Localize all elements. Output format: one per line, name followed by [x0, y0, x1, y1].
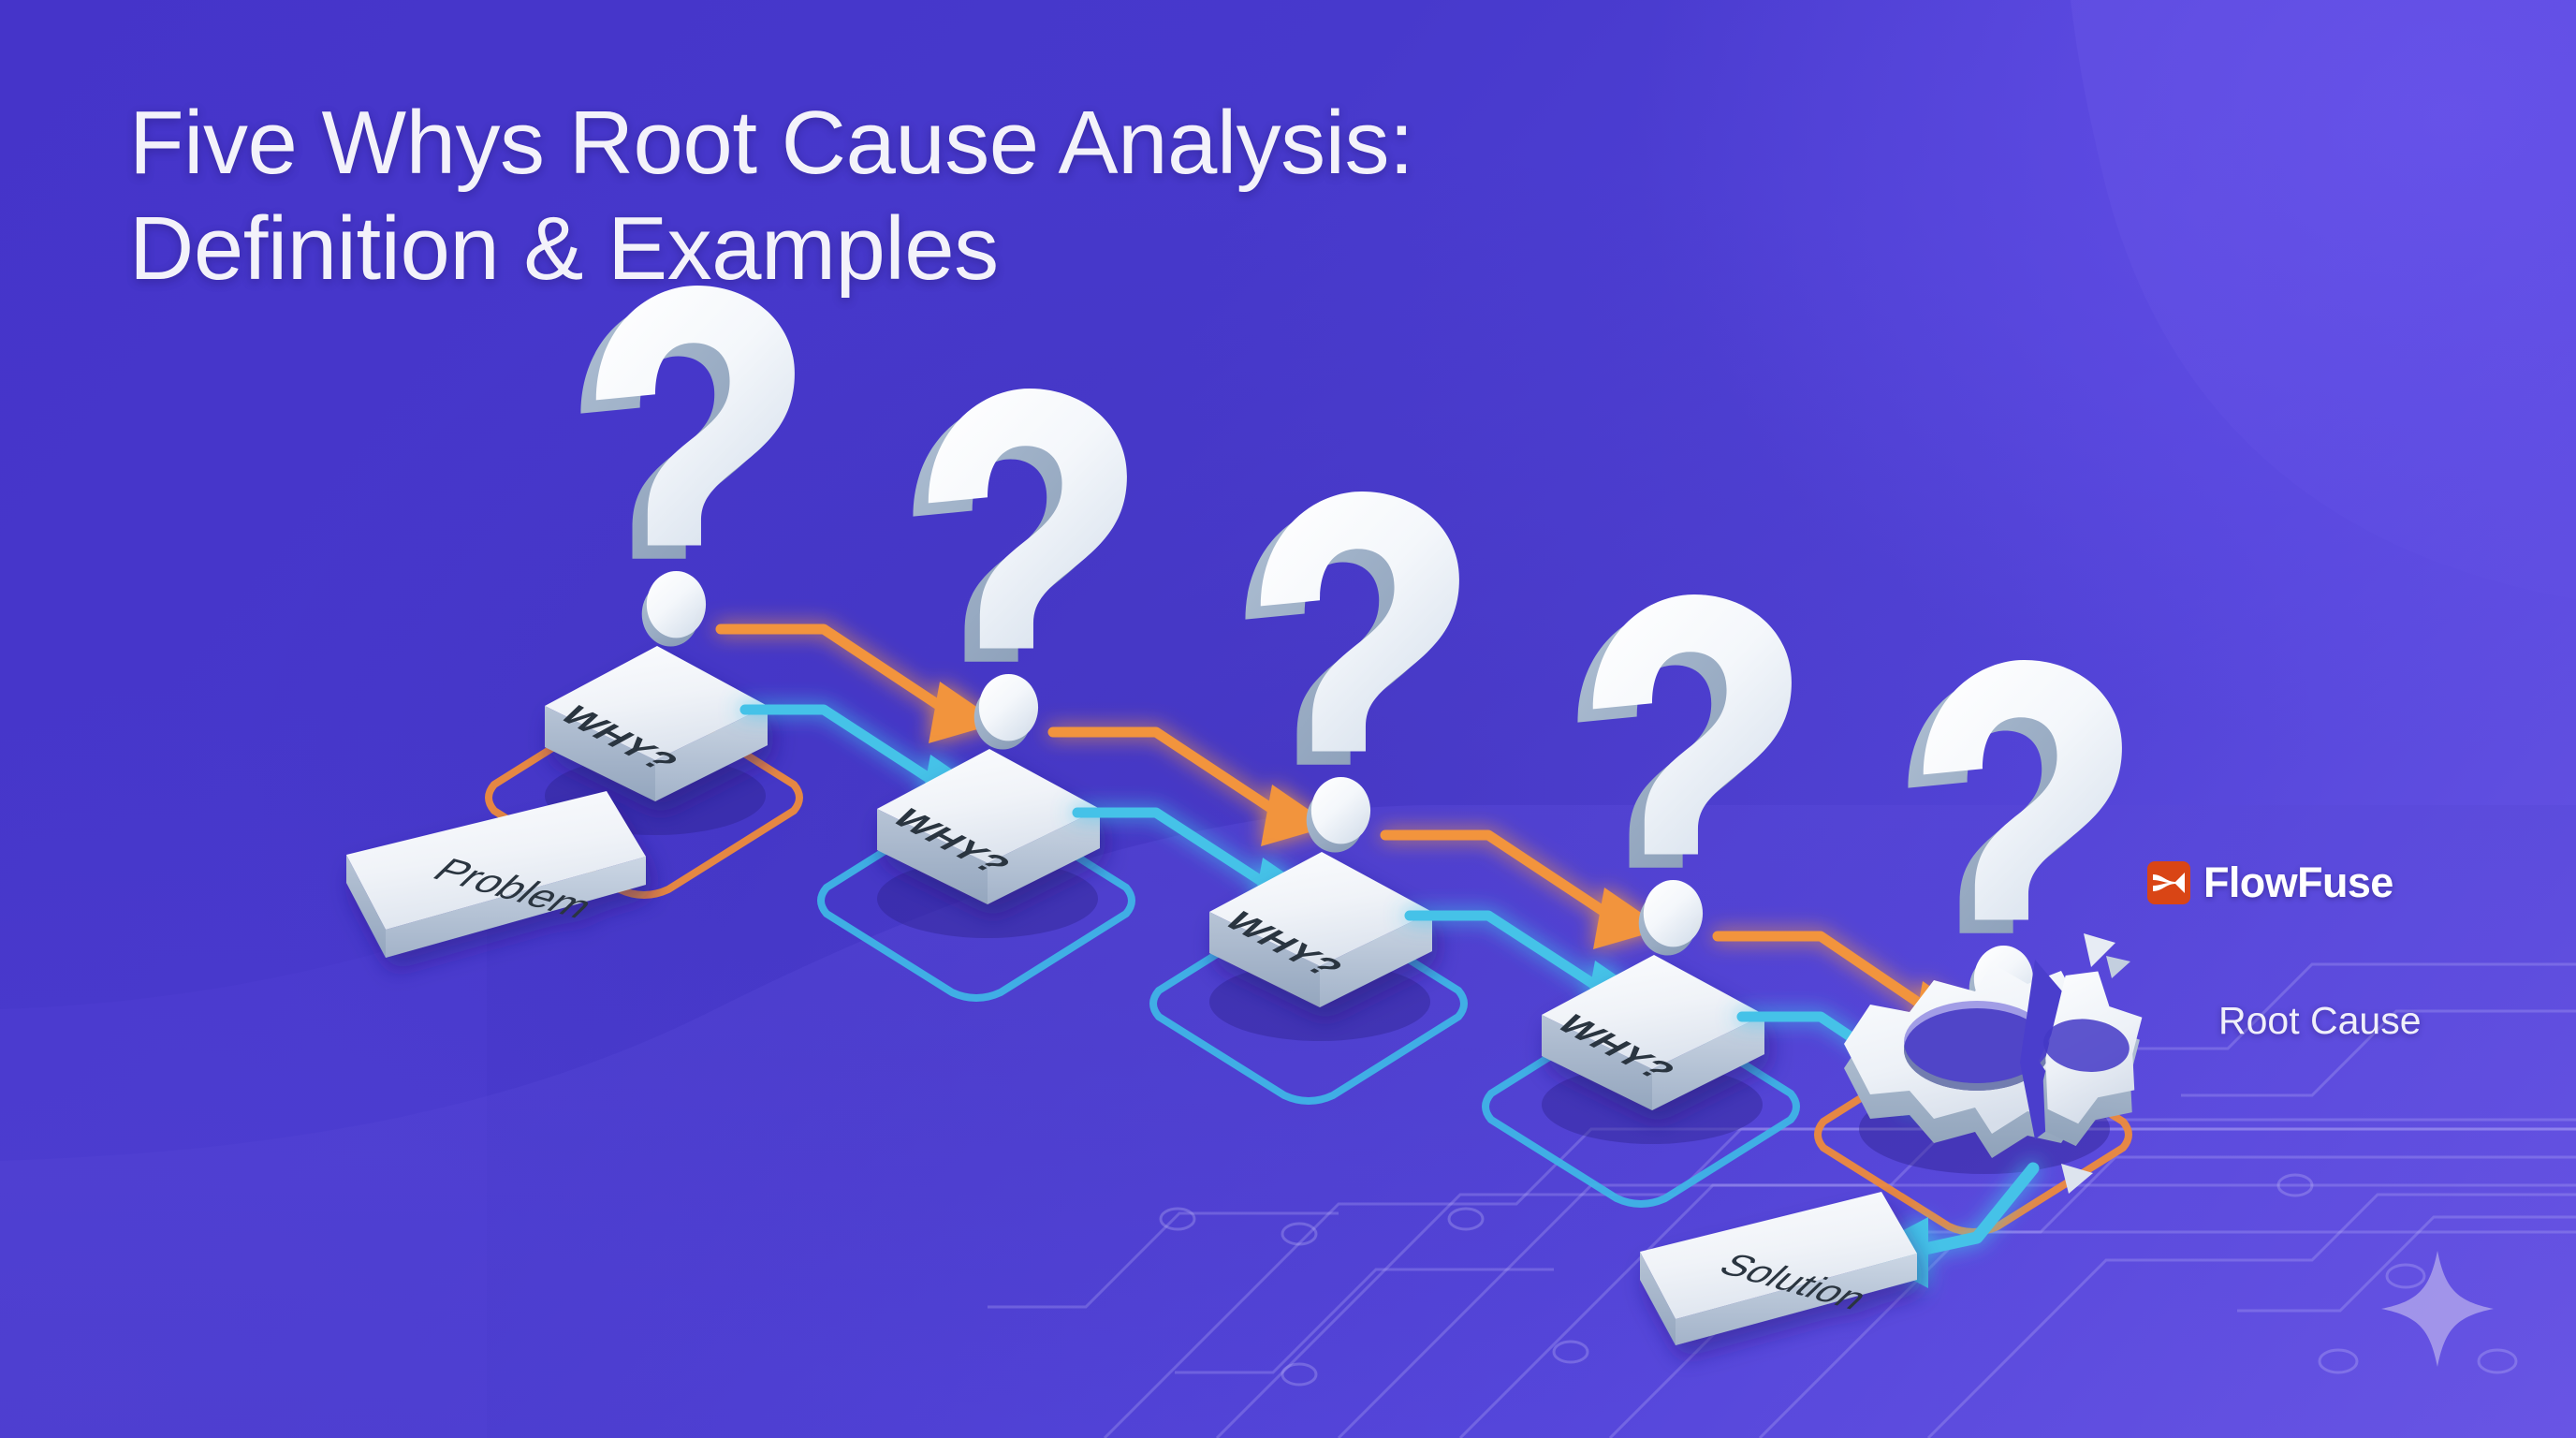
why-step-4[interactable]: WHY? [1486, 594, 1796, 1204]
question-mark-icon [1908, 660, 2121, 1021]
root-cause-node[interactable] [1818, 660, 2146, 1232]
root-cause-label: Root Cause [2218, 999, 2422, 1043]
flowfuse-mark-icon [2147, 861, 2190, 904]
five-whys-diagram: WHY? WHY? [0, 0, 2576, 1438]
solution-plate[interactable]: Solution [1640, 1192, 1917, 1345]
why-step-2[interactable]: WHY? [821, 389, 1132, 998]
why-step-3[interactable]: WHY? [1153, 492, 1464, 1101]
why-step-1[interactable]: WHY? [489, 286, 799, 895]
flowfuse-wordmark: FlowFuse [2203, 858, 2393, 907]
flowfuse-logo[interactable]: FlowFuse [2147, 858, 2393, 907]
question-mark-icon [580, 286, 794, 647]
